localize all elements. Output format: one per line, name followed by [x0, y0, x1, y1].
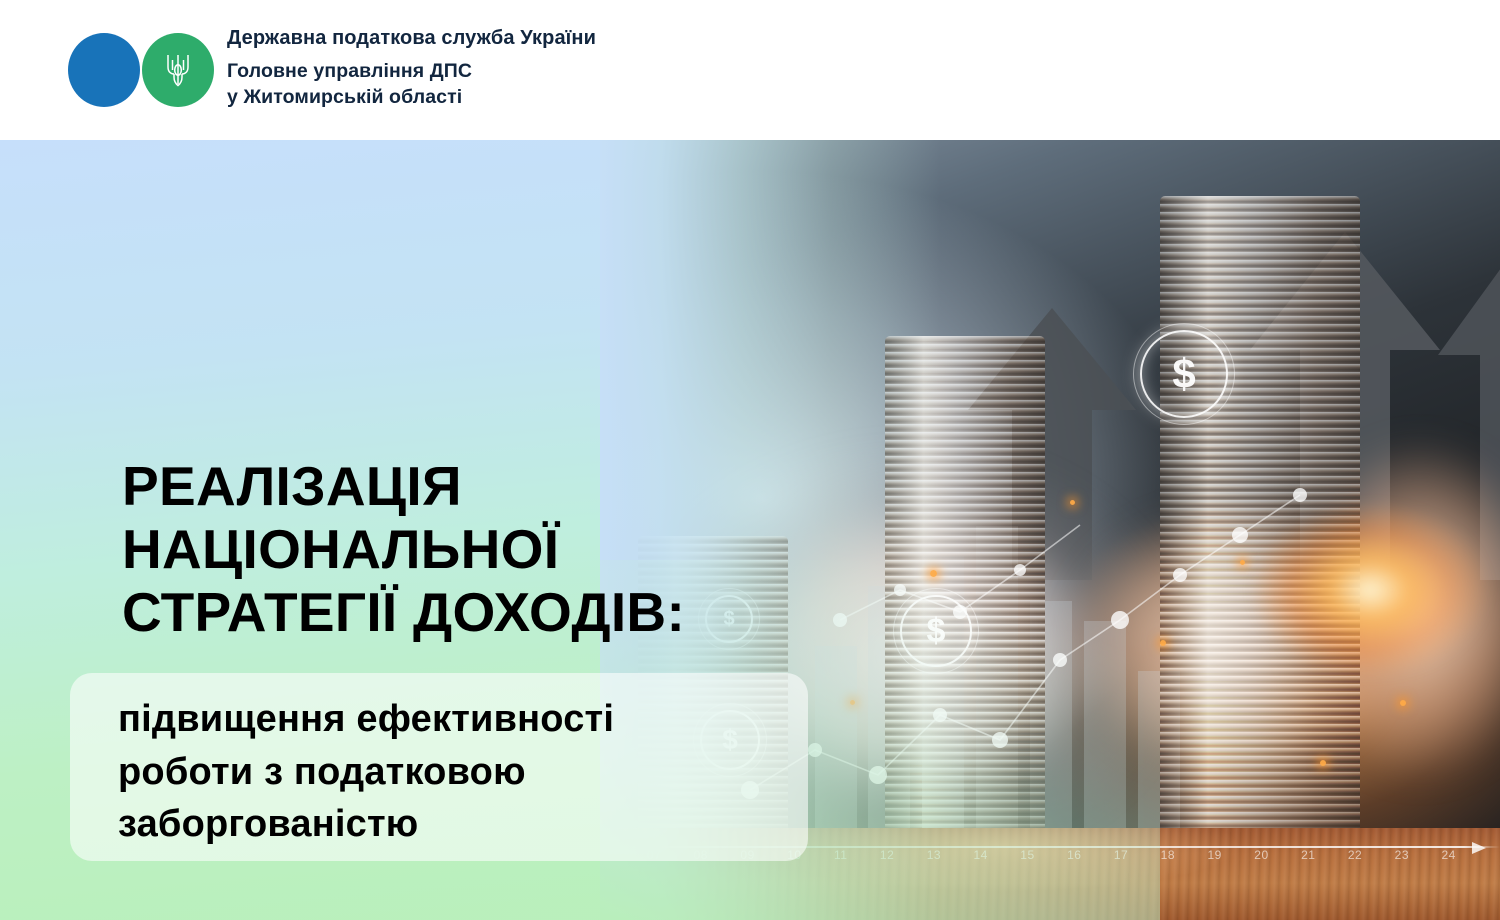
logo-blue-circle-icon: [68, 33, 140, 107]
tick-label: 24: [1441, 848, 1455, 868]
spark: [1320, 760, 1326, 766]
subtitle-line-3: заборгованістю: [118, 798, 818, 851]
dps-logo: [68, 33, 214, 107]
tick-label: 19: [1207, 848, 1221, 868]
page-title: РЕАЛІЗАЦІЯ НАЦІОНАЛЬНОЇ СТРАТЕГІЇ ДОХОДІ…: [122, 455, 802, 644]
subtitle-line-1: підвищення ефективності: [118, 693, 818, 746]
title-line-1: РЕАЛІЗАЦІЯ: [122, 455, 802, 518]
tick-label: 22: [1348, 848, 1362, 868]
spark: [1400, 700, 1406, 706]
title-line-3: СТРАТЕГІЇ ДОХОДІВ:: [122, 581, 802, 644]
banner-body: $ $ $ $ $ 06 07 08 09 10 11 12: [0, 140, 1500, 920]
timeline-arrow-icon: [1472, 842, 1486, 854]
tick-label: 21: [1301, 848, 1315, 868]
dollar-hud-large: $: [1140, 330, 1228, 418]
tick-label: 20: [1254, 848, 1268, 868]
org-title-line-2: Головне управління ДПС: [227, 62, 596, 82]
tick-label: 18: [1161, 848, 1175, 868]
subtitle-text: підвищення ефективності роботи з податко…: [118, 693, 818, 851]
org-title-block: Державна податкова служба України Головн…: [227, 28, 596, 107]
org-title-line-1: Державна податкова служба України: [227, 28, 596, 48]
header-bar: Державна податкова служба України Головн…: [0, 0, 1500, 140]
tick-label: 23: [1395, 848, 1409, 868]
spark: [1240, 560, 1245, 565]
title-line-2: НАЦІОНАЛЬНОЇ: [122, 518, 802, 581]
banner-canvas: Державна податкова служба України Головн…: [0, 0, 1500, 920]
org-title-line-3: у Житомирській області: [227, 88, 596, 108]
spark: [1070, 500, 1075, 505]
subtitle-line-2: роботи з податковою: [118, 746, 818, 799]
spark: [1160, 640, 1166, 646]
ukrainian-trident-icon: [163, 50, 193, 90]
logo-green-circle-icon: [142, 33, 214, 107]
